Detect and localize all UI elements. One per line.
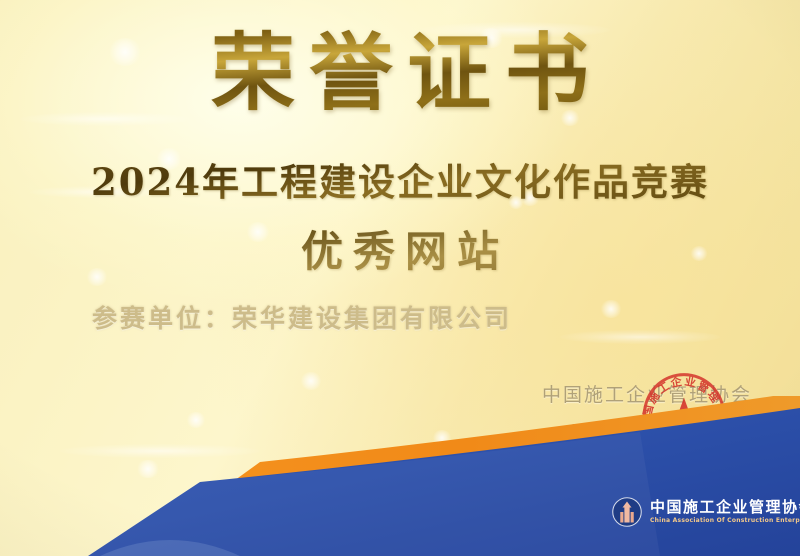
association-footer-logo: 中国施工企业管理协会 China Association Of Construc… (612, 497, 800, 527)
recipient-line: 参赛单位：荣华建设集团有限公司 (92, 299, 512, 335)
glare-spot (300, 372, 322, 390)
footer-org-name-cn: 中国施工企业管理协会 (650, 500, 800, 515)
award-category: 优秀网站 (0, 218, 800, 279)
certificate-title: 荣誉证书 (0, 26, 800, 120)
footer-org-name-en: China Association Of Construction Enterp… (650, 518, 800, 524)
footer-ribbon-graphic (0, 396, 800, 556)
competition-subtitle: 2024年工程建设企业文化作品竞赛 (0, 152, 800, 206)
association-building-emblem-icon (612, 497, 642, 527)
honor-certificate: 荣誉证书 2024年工程建设企业文化作品竞赛 优秀网站 参赛单位：荣华建设集团有… (0, 0, 800, 556)
footer-logo-text: 中国施工企业管理协会 China Association Of Construc… (650, 500, 800, 524)
glare-spot (600, 300, 622, 318)
glare-streak (560, 330, 720, 344)
